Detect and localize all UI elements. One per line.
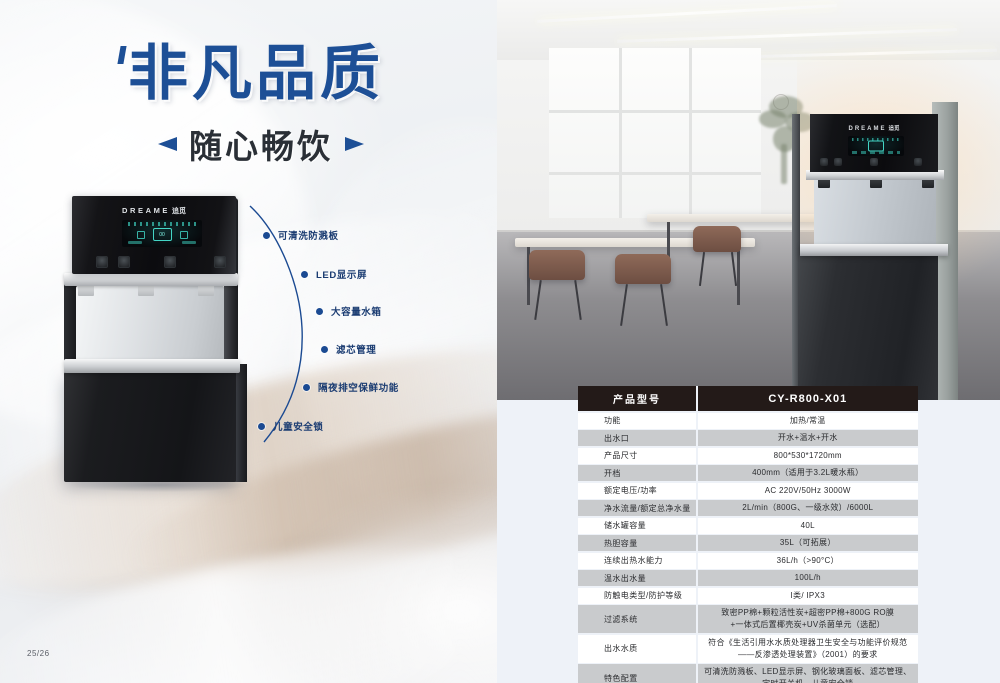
spec-row-value-line: ——反渗透处理装置》（2001）的要求 [738,649,878,661]
product-head-unit: DREAME追觅 [810,114,938,172]
spec-row-value-line: 可清洗防溅板、LED显示屏、钢化玻璃面板、滤芯管理、 [704,666,911,678]
product-lower-cabinet [798,255,938,400]
spec-row-key: 功能 [578,413,696,429]
spec-row-key: 储水罐容量 [578,518,696,534]
spec-table: 产品型号 CY-R800-X01 功能加热/常温出水口开水+温水+开水产品尺寸8… [578,386,918,683]
spec-table-row: 热胆容量35L（可拓展） [578,535,918,551]
photo-chair [529,250,585,280]
spec-row-key: 过滤系统 [578,605,696,633]
spec-table-body: 功能加热/常温出水口开水+温水+开水产品尺寸800*530*1720mm开档40… [578,413,918,683]
product-lower-cabinet [64,372,236,482]
headline-main: 非凡品质 [128,44,428,104]
headline-sub-row: 随心畅饮 [128,120,428,168]
spec-row-value: 36L/h（>90°C） [698,553,919,569]
callout-dot-icon [321,346,328,353]
brand-logo-latin: DREAME [848,126,886,132]
led-display-screen [848,136,904,156]
left-page: 非凡品质 随心畅饮 DREA [0,0,497,683]
product-head-unit: DREAME追觅 00 [72,196,236,274]
spec-row-value: I类/ IPX3 [698,588,919,604]
spec-row-key: 防触电类型/防护等级 [578,588,696,604]
spec-row-value: 400mm（适用于3.2L暖水瓶） [698,465,919,481]
spec-header-key: 产品型号 [578,391,696,406]
led-display-screen: 00 [122,220,202,247]
chevron-right-icon [345,137,364,151]
brochure-spread: 非凡品质 随心畅饮 DREA [0,0,1000,683]
spec-row-key: 开档 [578,465,696,481]
spec-row-key: 热胆容量 [578,535,696,551]
spec-table-row: 出水水质符合《生活引用水水质处理器卫生安全与功能评价规范——反渗透处理装置》（2… [578,635,918,663]
spec-row-key: 特色配置 [578,664,696,683]
brand-logo-latin: DREAME [122,206,170,215]
spec-row-value: 100L/h [698,570,919,586]
spec-row-value: 40L [698,518,919,534]
photo-chair [615,254,671,284]
spec-row-value: 加热/常温 [698,413,919,429]
product-metal-band [800,244,948,256]
spec-table-row: 出水口开水+温水+开水 [578,430,918,446]
callout-5: 儿童安全锁 [258,419,324,433]
right-page: DREAME追觅 商用智能净饮一体机 CY-R800-X01 三出水龙头 大容量… [497,0,1000,683]
photo-chair [693,226,741,252]
callout-4: 隔夜排空保鲜功能 [303,380,399,394]
spec-row-value: AC 220V/50Hz 3000W [698,483,919,499]
spec-row-value: 可清洗防溅板、LED显示屏、钢化玻璃面板、滤芯管理、定时开关机、儿童安全锁 [698,664,919,683]
spec-row-key: 出水口 [578,430,696,446]
callout-dot-icon [263,232,270,239]
spec-table-row: 防触电类型/防护等级I类/ IPX3 [578,588,918,604]
brand-logo: DREAME追觅 [72,206,236,216]
chevron-left-icon [158,137,177,151]
spec-row-key: 温水出水量 [578,570,696,586]
product-drip-tray [64,273,238,286]
spec-row-key: 产品尺寸 [578,448,696,464]
spec-row-key: 出水水质 [578,635,696,663]
callout-dot-icon [301,271,308,278]
spec-row-value: 致密PP棉+颗粒活性炭+超密PP棉+800G RO膜+一体式后置椰壳炭+UV杀菌… [698,605,919,633]
spec-row-value: 800*530*1720mm [698,448,919,464]
spec-row-value-line: 致密PP棉+颗粒活性炭+超密PP棉+800G RO膜 [721,607,894,619]
callout-dot-icon [316,308,323,315]
page-number: 25/26 [27,649,50,658]
brand-logo-cn: 追觅 [889,126,900,132]
headline-block: 非凡品质 随心畅饮 [128,44,428,168]
spec-row-value: 2L/min（800G、一级水效）/6000L [698,500,919,516]
spec-table-row: 特色配置可清洗防溅板、LED显示屏、钢化玻璃面板、滤芯管理、定时开关机、儿童安全… [578,664,918,683]
spec-table-row: 功能加热/常温 [578,413,918,429]
spec-row-value: 符合《生活引用水水质处理器卫生安全与功能评价规范——反渗透处理装置》（2001）… [698,635,919,663]
spec-table-row: 额定电压/功率AC 220V/50Hz 3000W [578,483,918,499]
spec-row-key: 额定电压/功率 [578,483,696,499]
callout-2: 大容量水箱 [316,304,382,318]
callout-dot-icon [258,423,265,430]
brand-logo-cn: 追觅 [172,208,186,215]
spec-table-row: 温水出水量100L/h [578,570,918,586]
spec-row-value: 开水+温水+开水 [698,430,919,446]
spec-header-value: CY-R800-X01 [698,393,919,405]
callout-label: 大容量水箱 [331,304,382,318]
callout-1: LED显示屏 [301,267,367,281]
feature-callouts: 可清洗防溅板 LED显示屏 大容量水箱 滤芯管理 隔夜排空保鲜功能 儿童安全锁 [248,200,478,450]
spec-row-value-line: 定时开关机、儿童安全锁 [762,678,853,683]
callout-dot-icon [303,384,310,391]
spec-row-value: 35L（可拓展） [698,535,919,551]
photo-window [549,48,761,218]
callout-label: 滤芯管理 [336,342,376,356]
spec-row-value-line: 符合《生活引用水水质处理器卫生安全与功能评价规范 [708,637,907,649]
spec-table-row: 连续出热水能力36L/h（>90°C） [578,553,918,569]
callout-label: 隔夜排空保鲜功能 [318,380,399,394]
office-scene-photo: DREAME追觅 [497,0,1000,400]
product-image-left: DREAME追觅 00 [64,196,244,484]
spec-table-row: 储水罐容量40L [578,518,918,534]
spec-row-key: 净水流量/额定总净水量 [578,500,696,516]
spec-table-row: 产品尺寸800*530*1720mm [578,448,918,464]
spec-row-key: 连续出热水能力 [578,553,696,569]
spec-table-header: 产品型号 CY-R800-X01 [578,386,918,411]
headline-sub: 随心畅饮 [189,120,333,168]
spec-table-row: 过滤系统致密PP棉+颗粒活性炭+超密PP棉+800G RO膜+一体式后置椰壳炭+… [578,605,918,633]
callout-label: LED显示屏 [316,267,367,281]
callout-label: 儿童安全锁 [273,419,324,433]
callout-0: 可清洗防溅板 [263,228,339,242]
callout-label: 可清洗防溅板 [278,228,339,242]
spec-table-row: 净水流量/额定总净水量2L/min（800G、一级水效）/6000L [578,500,918,516]
spec-table-row: 开档400mm（适用于3.2L暖水瓶） [578,465,918,481]
spec-row-value-line: +一体式后置椰壳炭+UV杀菌单元（选配） [731,619,885,631]
product-image-right: DREAME追觅 [810,114,955,400]
callout-3: 滤芯管理 [321,342,376,356]
headline-tick-mark [117,46,126,64]
brand-logo: DREAME追觅 [810,124,938,132]
product-touch-buttons [86,256,222,268]
product-metal-band [64,359,240,373]
